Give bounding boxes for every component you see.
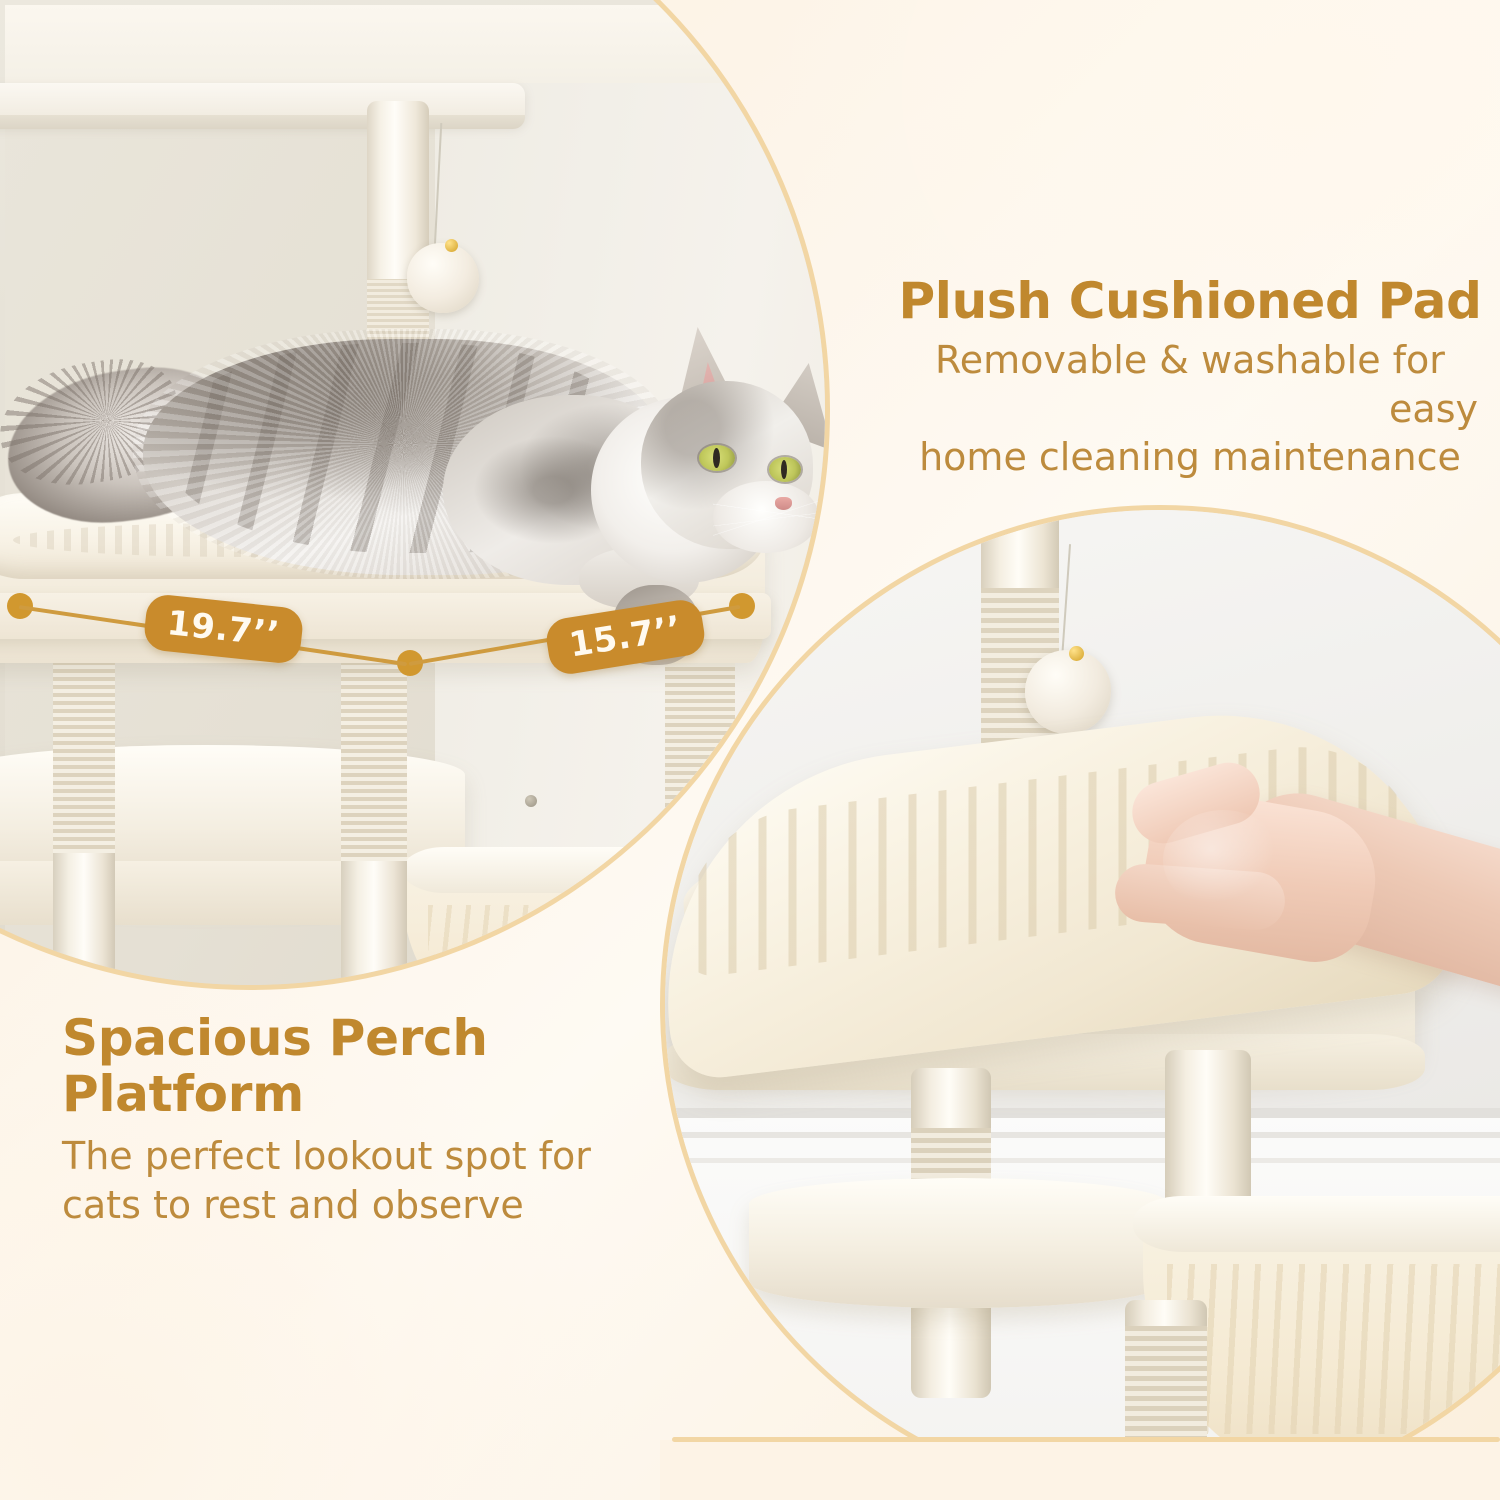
feature-title-line-2: Platform: [62, 1065, 304, 1123]
ceiling-band: [5, 5, 830, 95]
feature-body-plush-pad: Removable & washable for easy home clean…: [880, 336, 1500, 482]
feature-body-line-3: home cleaning maintenance: [880, 433, 1500, 482]
panel-bottom-crop-mask: [660, 1440, 1500, 1500]
model-knuckle-highlight: [1163, 810, 1283, 910]
support-post-center: [341, 633, 407, 990]
wall-moulding-3: [665, 1158, 1500, 1163]
feature-body-line-1: The perfect lookout spot for: [62, 1132, 702, 1181]
wall-moulding-2: [665, 1132, 1500, 1138]
panel-bottom-border: [672, 1437, 1500, 1442]
feature-body-perch: The perfect lookout spot for cats to res…: [62, 1132, 702, 1229]
wall-screw: [525, 795, 537, 807]
pompom-toy: [407, 243, 479, 313]
feature-title-perch: Spacious Perch Platform: [62, 1010, 702, 1122]
upper-platform-board: [0, 83, 525, 125]
feature-title-plush-pad: Plush Cushioned Pad: [880, 272, 1500, 330]
wall-moulding-1: [665, 1108, 1500, 1118]
pompom-toy: [1025, 650, 1111, 734]
feature-body-line-2: cats to rest and observe: [62, 1181, 702, 1230]
lower-perch-platform: [749, 1178, 1169, 1308]
photo-panel-removable-cushion: [660, 505, 1500, 1500]
sisal-wrap: [53, 663, 115, 853]
gold-bell-bead-icon: [1069, 646, 1084, 661]
feature-body-line-2: easy: [880, 385, 1500, 434]
gold-bell-bead-icon: [445, 239, 458, 252]
feature-body-line-1: Removable & washable for: [880, 336, 1500, 385]
feature-title-line-1: Spacious Perch: [62, 1009, 488, 1067]
feature-block-perch: Spacious Perch Platform The perfect look…: [62, 1010, 702, 1229]
photo-scene-bottom-right: [665, 510, 1500, 1500]
sisal-wrap: [341, 651, 407, 861]
feature-block-plush-pad: Plush Cushioned Pad Removable & washable…: [880, 272, 1500, 482]
product-feature-infographic: 19.7’’ 15.7’’: [0, 0, 1500, 1500]
support-post-left: [53, 633, 115, 990]
